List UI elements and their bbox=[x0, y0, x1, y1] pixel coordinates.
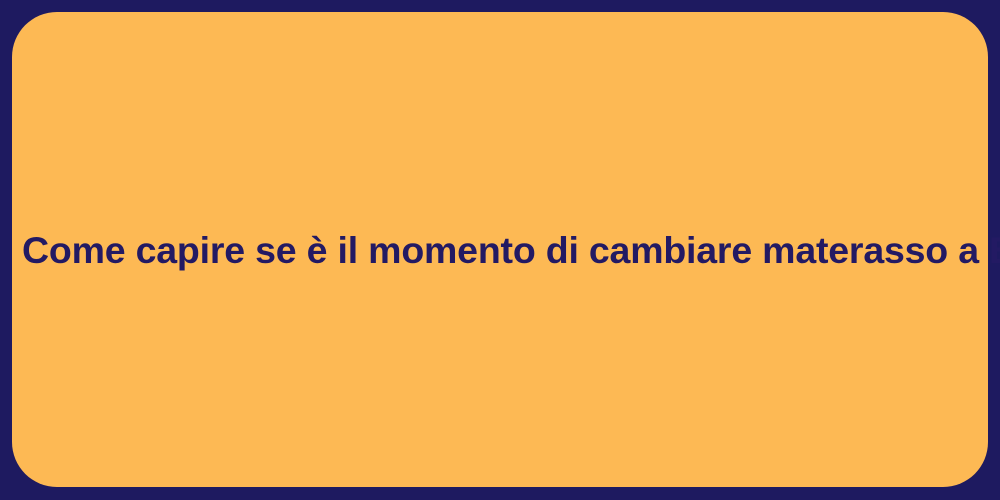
banner-panel: Come capire se è il momento di cambiare … bbox=[12, 12, 988, 487]
banner-canvas: Come capire se è il momento di cambiare … bbox=[0, 0, 1000, 500]
page-title: Come capire se è il momento di cambiare … bbox=[22, 227, 988, 271]
